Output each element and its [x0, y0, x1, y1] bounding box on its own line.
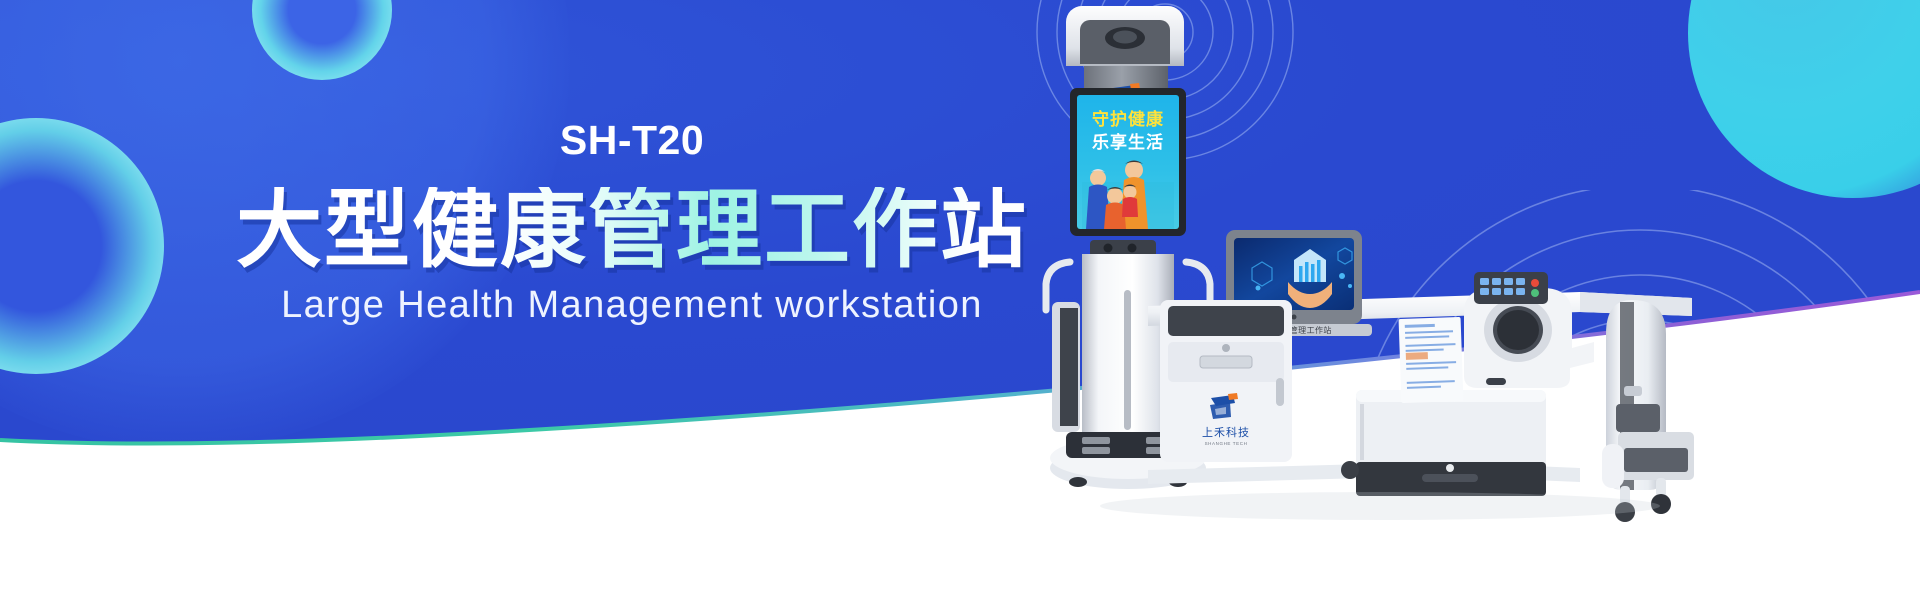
- report-printout: [1399, 317, 1464, 403]
- svg-text:乐享生活: 乐享生活: [1092, 132, 1164, 153]
- svg-text:上禾科技: 上禾科技: [1202, 425, 1250, 439]
- product-hero-banner: SH-T20 大型健康管理工作站 Large Health Management…: [0, 0, 1920, 600]
- workstation-desk: 智能健康管理工作站: [1148, 230, 1694, 522]
- page-title: 大型健康管理工作站: [232, 187, 1032, 275]
- page-subtitle: Large Health Management workstation: [232, 285, 1032, 327]
- desk-brand-unit: 上禾科技 SHANGHE TECH: [1160, 300, 1292, 462]
- blood-pressure-monitor: [1464, 272, 1594, 388]
- svg-text:守护健康: 守护健康: [1092, 109, 1164, 130]
- kiosk-ad-screen: 守护健康 乐享生活: [1070, 88, 1186, 236]
- printer-cabinet: [1356, 390, 1546, 496]
- model-code: SH-T20: [232, 120, 1032, 161]
- product-image: 上禾科技 SHANGHE TECH 守护健康 乐享生活: [1020, 0, 1920, 600]
- svg-text:SHANGHE TECH: SHANGHE TECH: [1205, 441, 1248, 446]
- headline-block: SH-T20 大型健康管理工作站 Large Health Management…: [232, 120, 1032, 327]
